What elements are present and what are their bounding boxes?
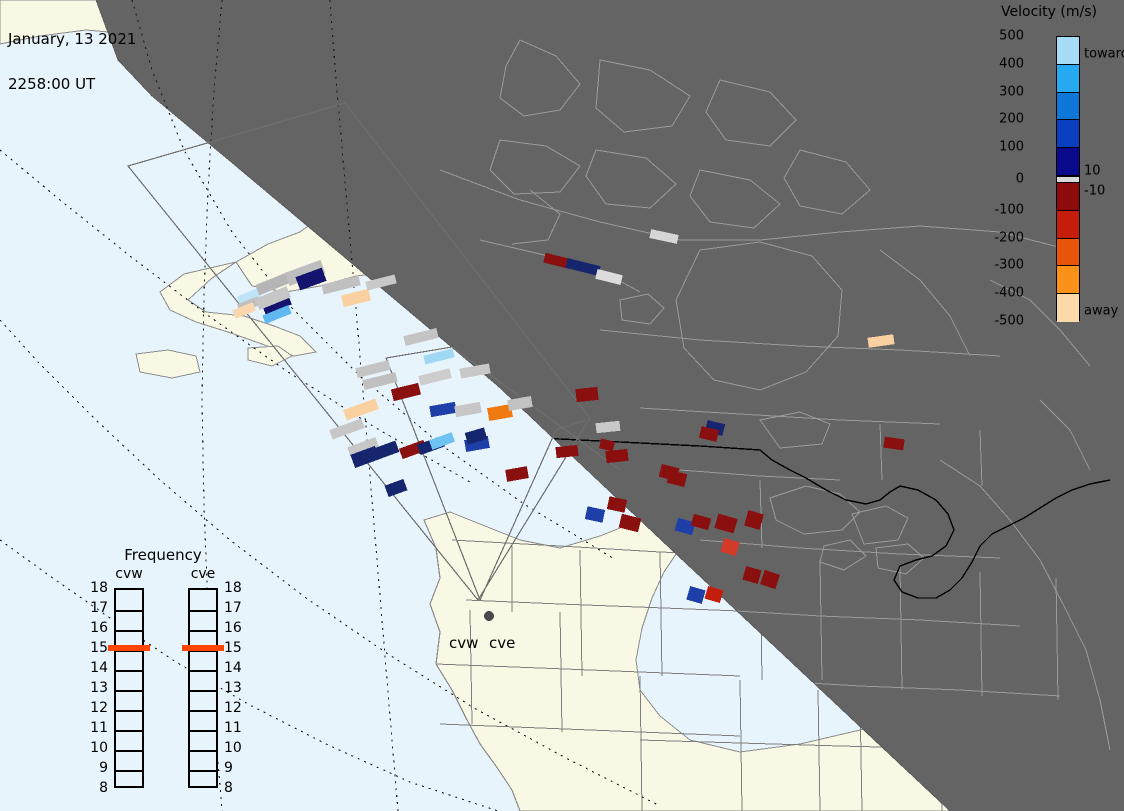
frequency-tick-label: 8 — [86, 780, 108, 796]
frequency-tick-label: 13 — [86, 680, 108, 696]
frequency-tick-label: 9 — [86, 760, 108, 776]
colorbar-segment — [1057, 176, 1079, 183]
frequency-tick-label: 11 — [224, 720, 242, 736]
colorbar-tick-label: 400 — [964, 56, 1024, 71]
frequency-tick-divider — [116, 770, 142, 772]
colorbar-segment — [1057, 93, 1079, 121]
frequency-tick-divider — [116, 610, 142, 612]
frequency-scale-bar — [188, 588, 218, 788]
colorbar-title: Velocity (m/s) — [984, 4, 1114, 20]
frequency-tick-divider — [116, 670, 142, 672]
frequency-tick-divider — [116, 630, 142, 632]
colorbar-segment — [1057, 148, 1079, 176]
frequency-tick-label: 16 — [224, 620, 242, 636]
colorbar-segment — [1057, 266, 1079, 294]
colorbar-tick-label: 200 — [964, 112, 1024, 127]
colorbar-tick-label: 0 — [964, 171, 1024, 186]
frequency-tick-label: 15 — [86, 640, 108, 656]
frequency-tick-divider — [116, 710, 142, 712]
time-label: 2258:00 UT — [8, 77, 136, 92]
frequency-tick-label: 10 — [224, 740, 242, 756]
colorbar-tick-label: -400 — [964, 286, 1024, 301]
radar-cell — [575, 387, 598, 402]
velocity-colorbar: Velocity (m/s) 5004003002001000-100-200-… — [980, 0, 1124, 340]
colorbar-away-label: away — [1084, 304, 1118, 319]
frequency-tick-divider — [190, 630, 216, 632]
colorbar-tick-label: -500 — [964, 314, 1024, 329]
frequency-tick-label: 11 — [86, 720, 108, 736]
colorbar-gradient — [1056, 36, 1080, 321]
frequency-tick-divider — [190, 750, 216, 752]
radar-cell — [555, 445, 578, 458]
frequency-tick-label: 18 — [224, 580, 242, 596]
colorbar-pos-threshold-label: 10 — [1084, 163, 1101, 178]
colorbar-tick-label: 300 — [964, 84, 1024, 99]
frequency-tick-label: 12 — [86, 700, 108, 716]
colorbar-segment — [1057, 65, 1079, 93]
frequency-tick-label: 14 — [224, 660, 242, 676]
frequency-tick-divider — [190, 770, 216, 772]
colorbar-segment — [1057, 183, 1079, 211]
colorbar-tick-label: -300 — [964, 258, 1024, 273]
frequency-tick-divider — [116, 690, 142, 692]
frequency-tick-label: 15 — [224, 640, 242, 656]
frequency-tick-divider — [116, 750, 142, 752]
frequency-legend-title: Frequency — [88, 546, 238, 564]
frequency-tick-label: 13 — [224, 680, 242, 696]
frequency-tick-divider — [190, 730, 216, 732]
frequency-legend: Frequency cvw18171615141312111098cve1817… — [88, 546, 238, 786]
colorbar-segment — [1057, 37, 1079, 65]
frequency-tick-label: 17 — [224, 600, 242, 616]
colorbar-neg-threshold-label: -10 — [1084, 183, 1105, 198]
colorbar-segment — [1057, 239, 1079, 267]
colorbar-tick-label: 100 — [964, 140, 1024, 155]
frequency-marker-cve — [182, 645, 224, 651]
frequency-column-label: cvw — [109, 566, 149, 582]
timestamp-block: January, 13 2021 2258:00 UT — [8, 2, 136, 122]
colorbar-segment — [1057, 294, 1079, 322]
colorbar-toward-label: toward — [1084, 47, 1124, 62]
frequency-tick-label: 12 — [224, 700, 242, 716]
colorbar-tick-label: -200 — [964, 230, 1024, 245]
frequency-tick-divider — [190, 670, 216, 672]
frequency-tick-divider — [190, 690, 216, 692]
frequency-tick-divider — [190, 710, 216, 712]
colorbar-tick-label: 500 — [964, 29, 1024, 44]
frequency-tick-divider — [116, 730, 142, 732]
date-label: January, 13 2021 — [8, 32, 136, 47]
frequency-tick-label: 14 — [86, 660, 108, 676]
frequency-tick-divider — [190, 610, 216, 612]
frequency-tick-label: 8 — [224, 780, 233, 796]
frequency-marker-cvw — [108, 645, 150, 651]
frequency-tick-label: 9 — [224, 760, 233, 776]
frequency-tick-label: 18 — [86, 580, 108, 596]
frequency-tick-label: 10 — [86, 740, 108, 756]
frequency-tick-label: 16 — [86, 620, 108, 636]
colorbar-segment — [1057, 120, 1079, 148]
frequency-tick-label: 17 — [86, 600, 108, 616]
radar-site-dot — [484, 611, 494, 621]
superdarn-map-view: January, 13 2021 2258:00 UT Velocity (m/… — [0, 0, 1124, 811]
colorbar-segment — [1057, 211, 1079, 239]
colorbar-tick-label: -100 — [964, 202, 1024, 217]
radar-cell — [605, 449, 628, 463]
frequency-scale-bar — [114, 588, 144, 788]
frequency-column-label: cve — [183, 566, 223, 582]
site-label-cve: cve — [489, 634, 515, 652]
site-label-cvw: cvw — [449, 634, 478, 652]
